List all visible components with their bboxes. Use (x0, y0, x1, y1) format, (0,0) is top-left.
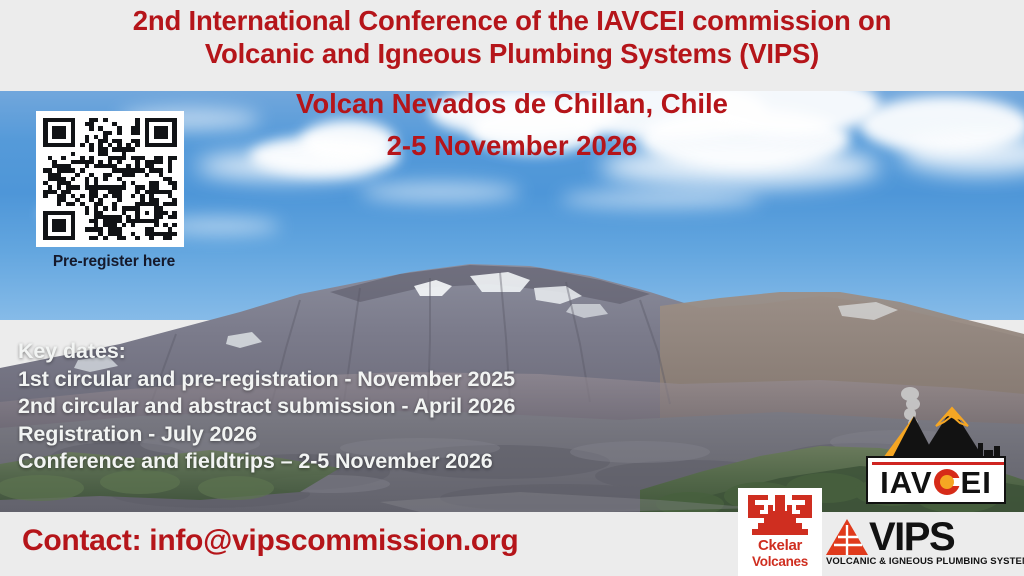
key-dates-block: Key dates: 1st circular and pre-registra… (18, 338, 515, 476)
key-date-item-3: Registration - July 2026 (18, 421, 515, 449)
title-band: 2nd International Conference of the IAVC… (0, 0, 1024, 91)
qr-code-image[interactable] (36, 111, 184, 247)
iavcei-letters: IAV EI (880, 467, 992, 498)
iavcei-c-ring-icon (934, 469, 960, 495)
ckelar-name-line1: Ckelar (752, 538, 808, 554)
vips-logo[interactable]: VIPS VOLCANIC & IGNEOUS PLUMBING SYSTEMS (826, 516, 1014, 568)
ckelar-andean-glyph-icon (746, 493, 814, 537)
vips-tagline: VOLCANIC & IGNEOUS PLUMBING SYSTEMS (826, 556, 1014, 567)
title-line-2: Volcanic and Igneous Plumbing Systems (V… (0, 36, 1024, 69)
iavcei-letters-after: EI (961, 467, 992, 498)
pre-registration-qr-block[interactable]: Pre-register here (36, 111, 192, 271)
key-date-item-2: 2nd circular and abstract submission - A… (18, 393, 515, 421)
contact-email[interactable]: Contact: info@vipscommission.org (22, 524, 518, 558)
qr-code-modules (43, 118, 177, 240)
ckelar-name-line2: Volcanes (752, 554, 808, 570)
iavcei-letters-before: IAV (880, 467, 932, 498)
iavcei-volcano-icon (866, 386, 1006, 462)
key-date-item-4: Conference and fieldtrips – 2-5 November… (18, 448, 515, 476)
ckelar-volcanes-logo[interactable]: Ckelar Volcanes (738, 488, 822, 576)
ckelar-wordmark: Ckelar Volcanes (752, 538, 808, 570)
iavcei-wordmark-box: IAV EI (866, 456, 1006, 504)
vips-triangle-icon (826, 519, 868, 555)
vips-acronym: VIPS (869, 519, 954, 555)
iavcei-red-rule (872, 462, 1004, 465)
conference-poster: 2nd International Conference of the IAVC… (0, 0, 1024, 576)
qr-caption: Pre-register here (36, 253, 192, 271)
iavcei-logo[interactable]: IAV EI (866, 386, 1006, 504)
key-date-item-1: 1st circular and pre-registration - Nove… (18, 366, 515, 394)
vips-logo-row: VIPS (826, 517, 1014, 555)
key-dates-heading: Key dates: (18, 338, 515, 366)
title-line-1: 2nd International Conference of the IAVC… (0, 0, 1024, 36)
